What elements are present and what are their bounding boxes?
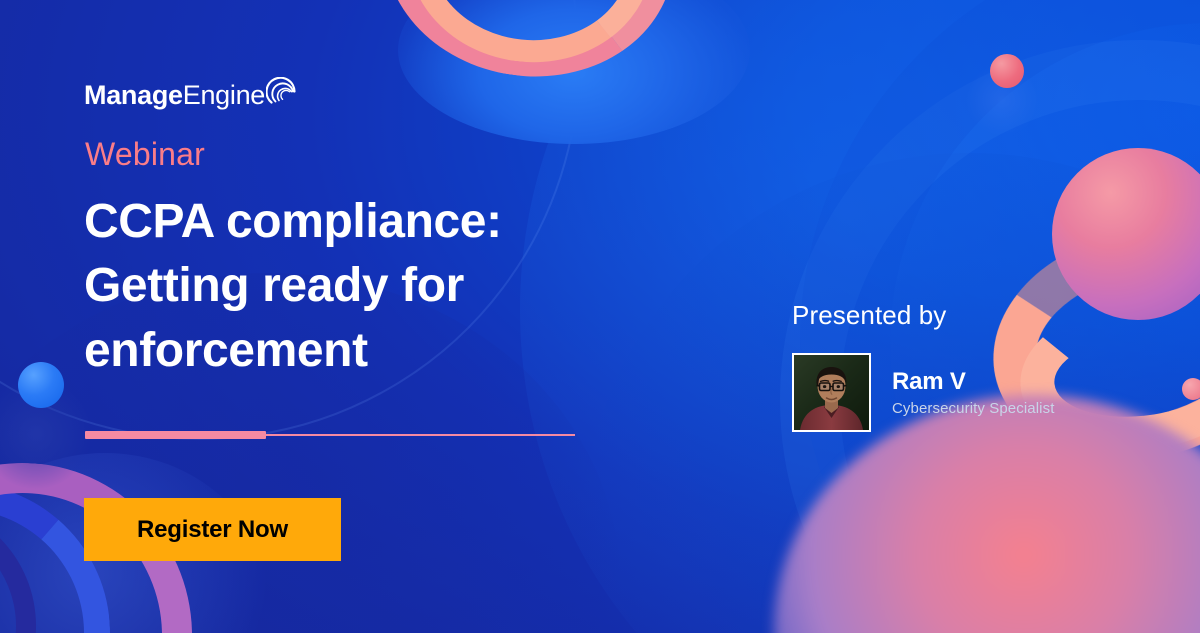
logo-wordmark: ManageEngine xyxy=(84,82,265,109)
divider xyxy=(85,431,575,439)
blue-dot-halo xyxy=(0,378,92,490)
presenter-title: Cybersecurity Specialist xyxy=(892,400,1054,417)
presenter-info: Ram V Cybersecurity Specialist xyxy=(892,368,1054,418)
pink-purple-sphere-icon xyxy=(1052,148,1200,320)
presenter-name: Ram V xyxy=(892,368,1054,396)
blue-ellipse-disc-icon xyxy=(398,0,750,144)
divider-thin-segment xyxy=(266,434,575,436)
webinar-promo-banner: ManageEngine Webinar CCPA compliance: Ge… xyxy=(0,0,1200,633)
manageengine-logo[interactable]: ManageEngine xyxy=(84,82,300,116)
avatar xyxy=(792,353,871,432)
small-pink-dot-icon xyxy=(1182,378,1200,400)
pink-torus-ring-icon xyxy=(368,0,689,95)
navy-ring-arc-icon xyxy=(0,501,36,633)
divider-thick-segment xyxy=(85,431,266,439)
pink-dot-halo xyxy=(966,64,1038,136)
swirl-icon xyxy=(266,77,300,116)
logo-word-engine: Engine xyxy=(183,80,265,110)
logo-word-manage: Manage xyxy=(84,80,183,110)
register-now-button[interactable]: Register Now xyxy=(84,498,341,561)
webinar-kicker: Webinar xyxy=(85,136,205,173)
page-title: CCPA compliance: Getting ready for enfor… xyxy=(84,190,624,383)
presenter-photo xyxy=(794,355,869,430)
pink-dot-icon xyxy=(990,54,1024,88)
blue-sphere-dot-icon xyxy=(18,362,64,408)
presenter-block: Presented by xyxy=(792,300,1054,432)
presented-by-label: Presented by xyxy=(792,300,1054,331)
salmon-torus-ring-icon xyxy=(398,0,663,74)
presenter-row: Ram V Cybersecurity Specialist xyxy=(792,353,1054,432)
